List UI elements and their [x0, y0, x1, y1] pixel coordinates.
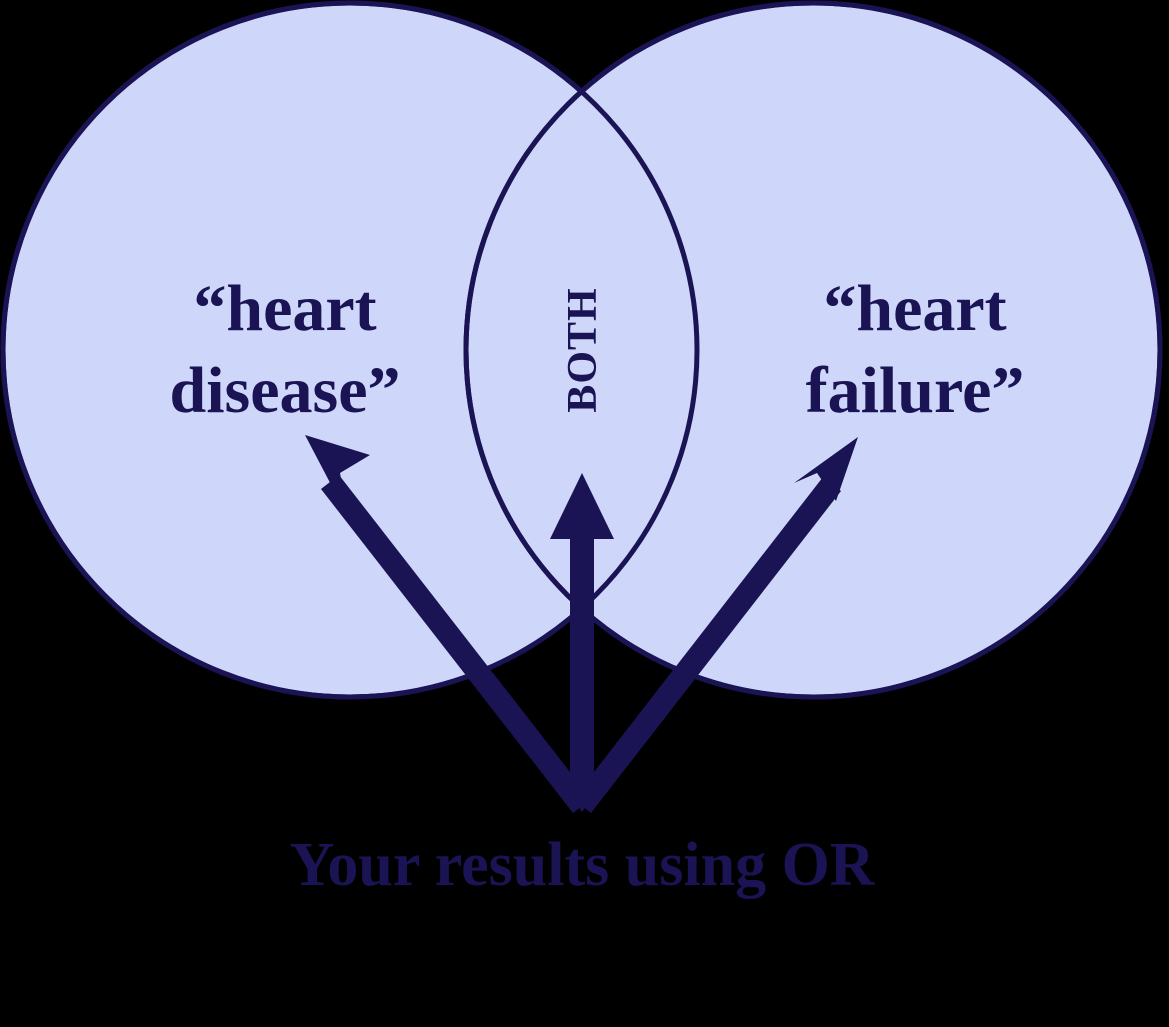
caption-line-1: Your results using OR [289, 831, 875, 899]
right-set-label-line-2: failure” [806, 354, 1025, 427]
arrow-to-intersection-shaft [570, 520, 594, 802]
right-set-label-line-1: “heart [823, 272, 1006, 345]
arrow-to-intersection[interactable] [550, 473, 614, 802]
venn-diagram-canvas: “heart disease” “heart failure” BOTH [0, 0, 1169, 1027]
intersection-label-text: BOTH [560, 287, 606, 412]
left-set-label-line-1: “heart [193, 272, 376, 345]
venn-diagram-svg: “heart disease” “heart failure” BOTH [0, 0, 1169, 1027]
intersection-label: BOTH [560, 287, 606, 412]
caption: Your results using OR [289, 831, 875, 899]
left-set-label-line-2: disease” [170, 354, 401, 427]
